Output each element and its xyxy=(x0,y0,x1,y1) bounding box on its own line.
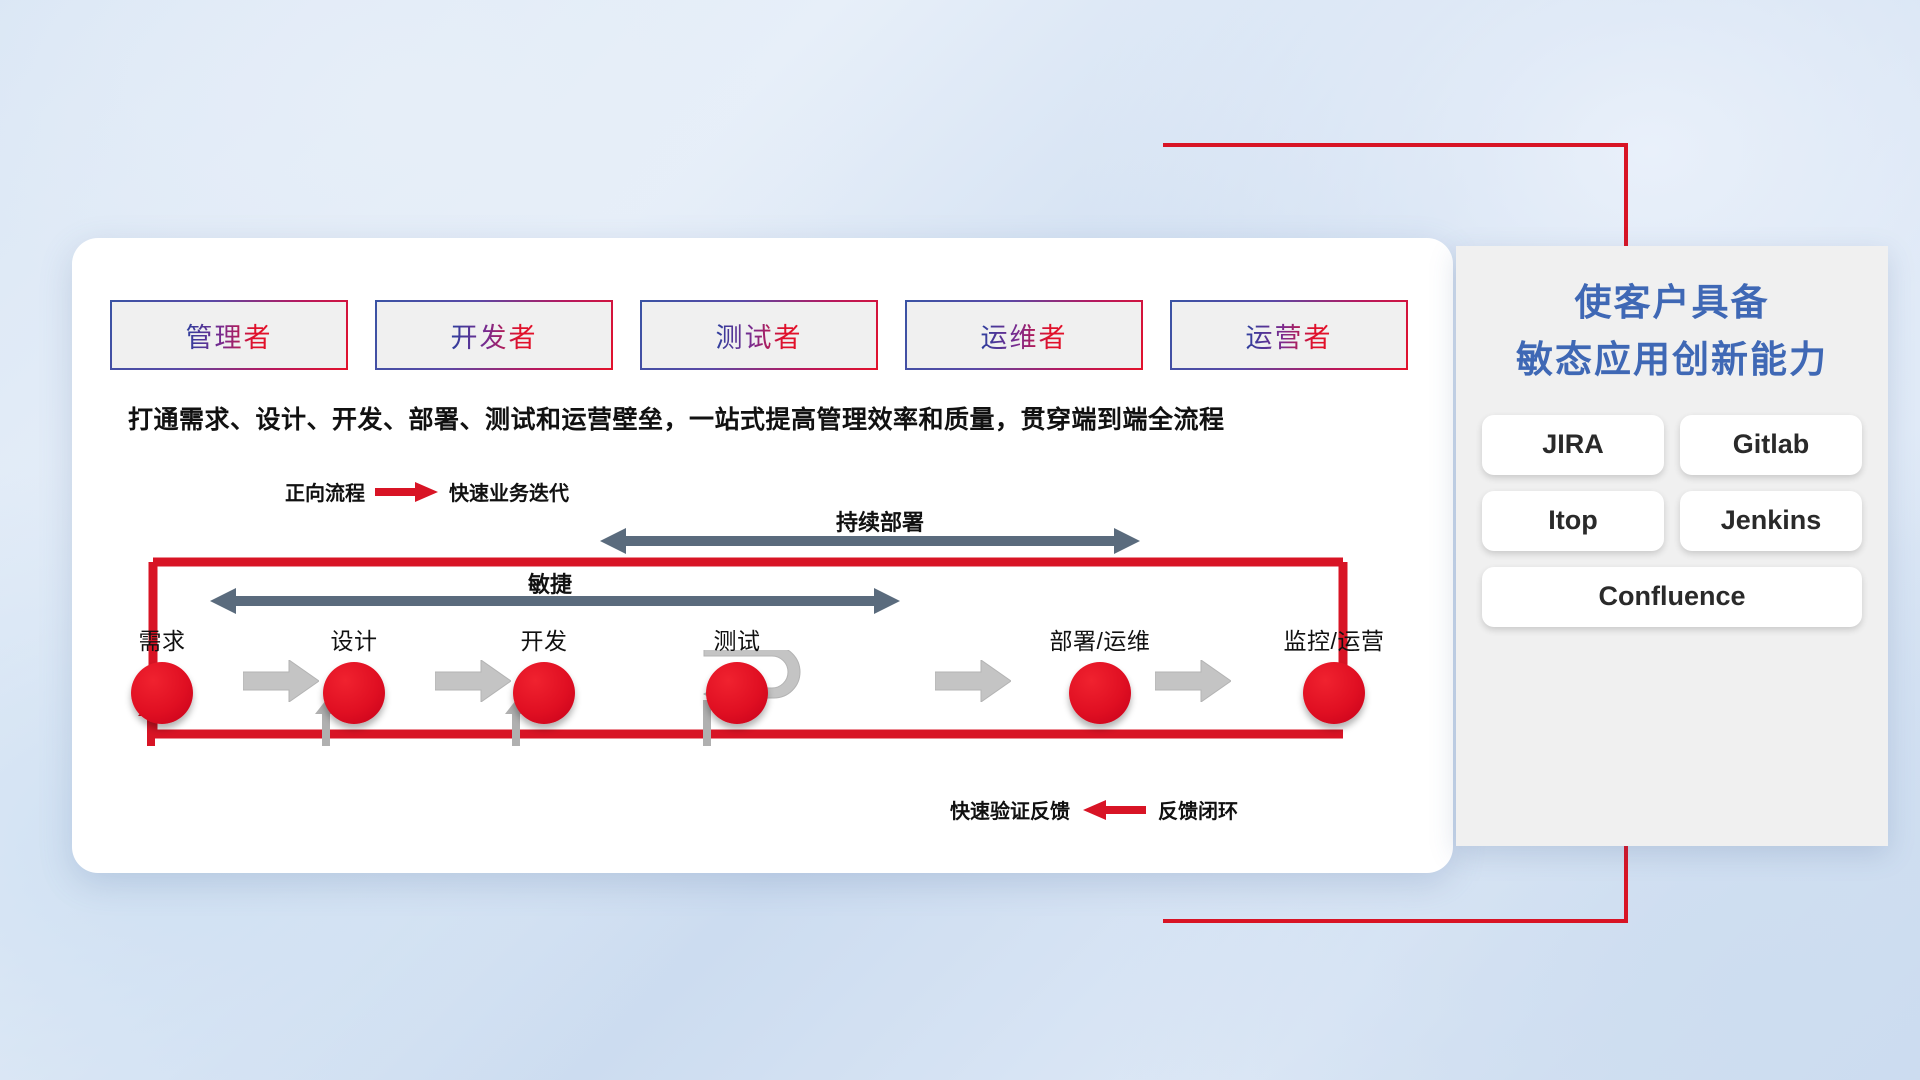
feedback-loop-annotation: 快速验证反馈 反馈闭环 xyxy=(950,795,1238,824)
forward-flow-source-label: 正向流程 xyxy=(285,477,365,506)
tool-chip-jenkins[interactable]: Jenkins xyxy=(1680,491,1862,551)
panel-title-line2: 敏态应用创新能力 xyxy=(1482,331,1862,388)
stage-circle xyxy=(1303,662,1365,724)
stage-label: 测试 xyxy=(677,622,797,656)
role-label: 管理者 xyxy=(186,316,273,355)
value-proposition-panel: 使客户具备 敏态应用创新能力 JIRA Gitlab Itop Jenkins … xyxy=(1456,246,1888,846)
role-label: 运维者 xyxy=(981,316,1068,355)
role-box-operations[interactable]: 运营者 xyxy=(1170,300,1408,370)
role-label: 测试者 xyxy=(716,316,803,355)
role-box-developer[interactable]: 开发者 xyxy=(375,300,613,370)
feedback-source-label: 反馈闭环 xyxy=(1158,795,1238,824)
stage-test[interactable]: 测试 xyxy=(677,622,797,724)
panel-title-line1: 使客户具备 xyxy=(1482,274,1862,331)
tool-chip-itop[interactable]: Itop xyxy=(1482,491,1664,551)
stage-label: 监控/运营 xyxy=(1244,622,1424,656)
stage-development[interactable]: 开发 xyxy=(484,622,604,724)
stage-circle xyxy=(513,662,575,724)
forward-flow-annotation: 正向流程 快速业务迭代 xyxy=(285,477,569,506)
stage-circle xyxy=(706,662,768,724)
tool-chip-gitlab[interactable]: Gitlab xyxy=(1680,415,1862,475)
panel-title: 使客户具备 敏态应用创新能力 xyxy=(1482,274,1862,389)
chevron-arrow-icon xyxy=(935,660,1011,702)
stage-design[interactable]: 设计 xyxy=(294,622,414,724)
stage-label: 部署/运维 xyxy=(1015,622,1185,656)
role-boxes-row: 管理者 开发者 测试者 运维者 运营者 xyxy=(110,300,1408,370)
tool-chip-list: JIRA Gitlab Itop Jenkins Confluence xyxy=(1482,415,1862,627)
role-box-manager[interactable]: 管理者 xyxy=(110,300,348,370)
stage-circle xyxy=(1069,662,1131,724)
stage-label: 开发 xyxy=(484,622,604,656)
red-arrow-left-icon xyxy=(1082,799,1146,821)
description-text: 打通需求、设计、开发、部署、测试和运营壁垒，一站式提高管理效率和质量，贯穿端到端… xyxy=(128,400,1418,436)
span-arrow-agile xyxy=(210,588,900,614)
tool-chip-confluence[interactable]: Confluence xyxy=(1482,567,1862,627)
role-label: 开发者 xyxy=(451,316,538,355)
stage-monitor-operations[interactable]: 监控/运营 xyxy=(1244,622,1424,724)
stage-deploy-ops[interactable]: 部署/运维 xyxy=(1015,622,1185,724)
role-box-tester[interactable]: 测试者 xyxy=(640,300,878,370)
forward-flow-target-label: 快速业务迭代 xyxy=(449,477,569,506)
stage-label: 需求 xyxy=(102,622,222,656)
tool-chip-jira[interactable]: JIRA xyxy=(1482,415,1664,475)
stage-requirement[interactable]: 需求 xyxy=(102,622,222,724)
stage-circle xyxy=(323,662,385,724)
stage-label: 设计 xyxy=(294,622,414,656)
role-label: 运营者 xyxy=(1246,316,1333,355)
feedback-target-label: 快速验证反馈 xyxy=(950,795,1070,824)
stage-circle xyxy=(131,662,193,724)
role-box-ops[interactable]: 运维者 xyxy=(905,300,1143,370)
red-arrow-right-icon xyxy=(375,481,439,503)
span-arrow-continuous-deployment xyxy=(600,528,1140,554)
